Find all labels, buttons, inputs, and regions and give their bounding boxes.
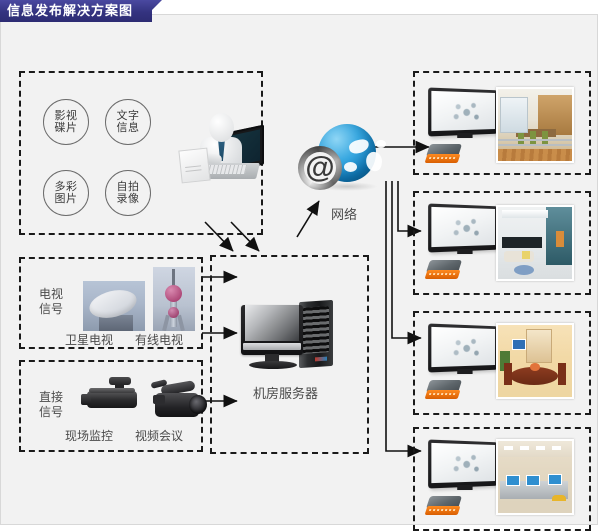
bubble-line1: 自拍 [117, 181, 140, 193]
tv-signal-label: 电视 信号 [29, 287, 73, 317]
bubble-line1: 影视 [55, 110, 78, 122]
header-banner: 信息发布解决方案图 [0, 0, 152, 22]
satellite-dish-icon [83, 281, 145, 331]
bubble-line1: 文字 [117, 110, 140, 122]
person-with-laptop-icon [176, 111, 266, 197]
flat-tv-icon [429, 205, 501, 255]
tv-tower-icon [153, 267, 195, 331]
camcorder-icon [149, 375, 211, 425]
server-caption: 机房服务器 [253, 387, 318, 401]
network-caption: 网络 [331, 208, 357, 222]
bubble-video-disc[interactable]: 影视 碟片 [43, 99, 89, 145]
media-player-box-icon [426, 380, 460, 401]
video-conference-caption: 视频会议 [135, 429, 183, 443]
globe-at-symbol-icon: @ [298, 120, 378, 206]
direct-signal-label: 直接 信号 [29, 390, 73, 420]
media-player-box-icon [426, 144, 460, 165]
flat-tv-icon [429, 325, 501, 375]
server-computer-icon [241, 301, 341, 379]
bubble-line1: 多彩 [55, 181, 78, 193]
modern-living-room-photo [496, 205, 574, 281]
bubble-line2: 碟片 [55, 122, 78, 134]
flat-tv-icon [429, 441, 501, 491]
bubble-selfie-video[interactable]: 自拍 录像 [105, 170, 151, 216]
bubble-line2: 信息 [117, 122, 140, 134]
media-player-box-icon [426, 496, 460, 517]
satellite-tv-caption: 卫星电视 [65, 333, 113, 347]
site-monitoring-caption: 现场监控 [65, 429, 113, 443]
media-player-box-icon [426, 260, 460, 281]
bubble-line2: 录像 [117, 193, 140, 205]
page-title: 信息发布解决方案图 [0, 0, 140, 22]
warm-dining-room-photo [496, 323, 574, 399]
kitchen-dining-room-photo [496, 87, 574, 163]
bubble-text-info[interactable]: 文字 信息 [105, 99, 151, 145]
bubble-colorful-pictures[interactable]: 多彩 图片 [43, 170, 89, 216]
flat-tv-icon [429, 89, 501, 139]
cable-tv-caption: 有线电视 [135, 333, 183, 347]
cctv-camera-icon [81, 377, 147, 423]
diagram-canvas: 影视 碟片 文字 信息 多彩 图片 自拍 录像 [0, 14, 598, 525]
diagram-root: 影视 碟片 文字 信息 多彩 图片 自拍 录像 [0, 0, 600, 527]
bubble-line2: 图片 [55, 193, 78, 205]
at-symbol-icon: @ [298, 146, 342, 190]
office-workspace-photo [496, 439, 574, 515]
